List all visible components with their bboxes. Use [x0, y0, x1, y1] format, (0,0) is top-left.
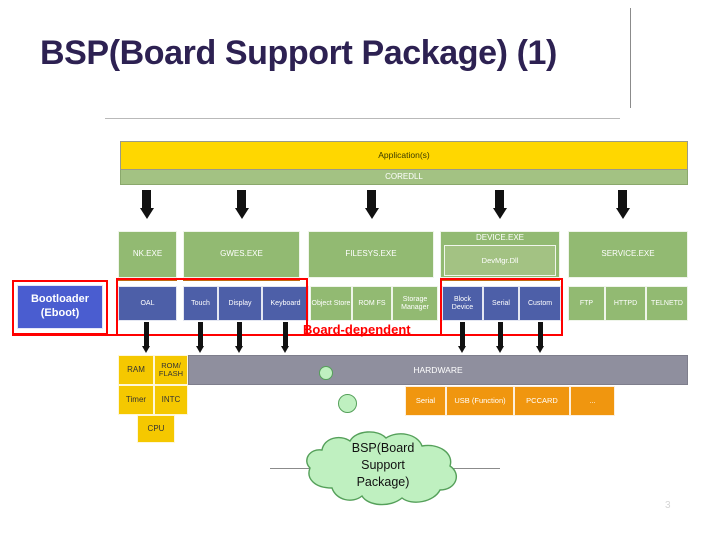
driver-box-telnetd[interactable]: TELNETD: [646, 286, 688, 321]
application-band: Application(s): [120, 141, 688, 170]
hw-box-cpu[interactable]: CPU: [137, 415, 175, 443]
page-number: 3: [665, 500, 671, 511]
hw-box-intc[interactable]: INTC: [154, 385, 188, 415]
hw-box-timer[interactable]: Timer: [118, 385, 154, 415]
hardware-bar: HARDWARE: [188, 355, 688, 385]
hw-box-rom-flash[interactable]: ROM/ FLASH: [154, 355, 188, 385]
process-box-nk[interactable]: NK.EXE: [118, 231, 177, 278]
board-dependent-label: Board-dependent: [303, 322, 411, 337]
driver-box-httpd[interactable]: HTTPD: [605, 286, 646, 321]
hw-box-ellipsis[interactable]: ...: [570, 386, 615, 416]
driver-box-ftp[interactable]: FTP: [568, 286, 605, 321]
title-horizontal-rule: [105, 118, 620, 119]
cloud-label-line1: BSP(Board: [298, 440, 468, 457]
highlight-rect-bootloader: [12, 280, 108, 335]
cloud-label-line2: Support: [298, 457, 468, 474]
hw-box-usb-function[interactable]: USB (Function): [446, 386, 514, 416]
process-box-service[interactable]: SERVICE.EXE: [568, 231, 688, 278]
process-box-filesys[interactable]: FILESYS.EXE: [308, 231, 434, 278]
cloud-tail-bubble-medium: [338, 394, 357, 413]
cloud-label-line3: Package): [298, 474, 468, 491]
slide-canvas: BSP(Board Support Package) (1) Applicati…: [0, 0, 720, 539]
coredll-band: COREDLL: [120, 170, 688, 185]
hw-box-ram[interactable]: RAM: [118, 355, 154, 385]
driver-box-storage-manager[interactable]: Storage Manager: [392, 286, 438, 321]
process-box-devmgr-dll[interactable]: DevMgr.Dll: [444, 245, 556, 276]
page-title: BSP(Board Support Package) (1): [40, 34, 557, 73]
driver-box-rom-fs[interactable]: ROM FS: [352, 286, 392, 321]
hw-box-pccard[interactable]: PCCARD: [514, 386, 570, 416]
driver-box-object-store[interactable]: Object Store: [310, 286, 352, 321]
process-box-gwes[interactable]: GWES.EXE: [183, 231, 300, 278]
bsp-cloud-label: BSP(Board Support Package): [298, 440, 468, 491]
cloud-tail-bubble-small: [319, 366, 333, 380]
title-vertical-rule: [630, 8, 631, 108]
hw-box-serial[interactable]: Serial: [405, 386, 446, 416]
